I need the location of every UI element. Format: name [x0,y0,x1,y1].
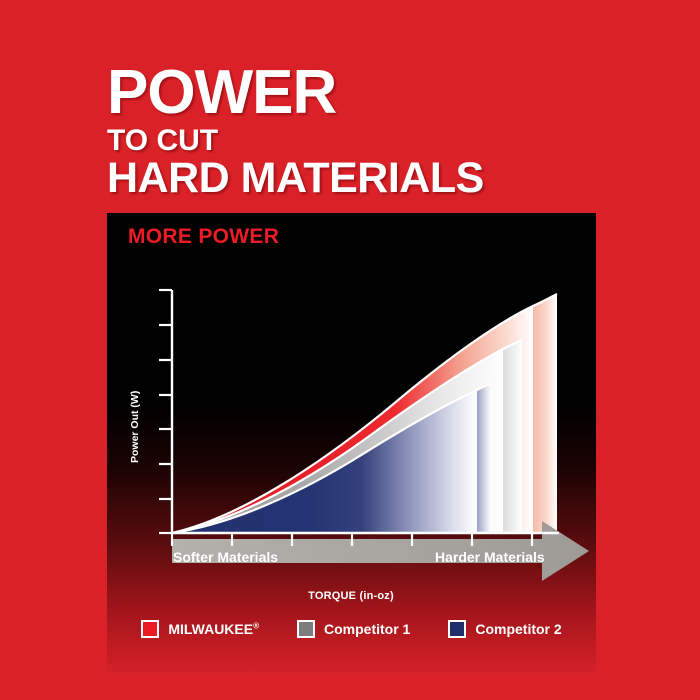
legend-swatch-competitor-2 [448,620,466,638]
chart-panel: MORE POWER [107,213,596,674]
y-axis-ticks [159,290,172,533]
headline-line-2: TO CUT [107,126,607,156]
x-axis-end-label: Harder Materials [435,549,545,565]
legend-item-milwaukee: MILWAUKEE® [141,620,259,638]
legend-label-competitor-2: Competitor 2 [475,621,561,637]
chart-legend: MILWAUKEE® Competitor 1 Competitor 2 [107,620,596,638]
legend-swatch-competitor-1 [297,620,315,638]
x-axis-title: TORQUE (in-oz) [308,590,394,602]
legend-label-milwaukee-text: MILWAUKEE [168,621,253,637]
headline-line-1: POWER [107,62,607,124]
headline-line-3: HARD MATERIALS [107,157,607,200]
legend-label-competitor-1: Competitor 1 [324,621,410,637]
y-axis-title: Power Out (W) [129,391,141,463]
power-vs-torque-chart: Power Out (W) Softer Materials Harder Ma… [107,213,596,674]
legend-item-competitor-2: Competitor 2 [448,620,561,638]
x-axis-start-label: Softer Materials [173,549,278,565]
headline-block: POWER TO CUT HARD MATERIALS [107,62,607,200]
legend-swatch-milwaukee [141,620,159,638]
registered-mark-icon: ® [253,621,259,630]
legend-label-milwaukee: MILWAUKEE® [168,621,259,637]
legend-item-competitor-1: Competitor 1 [297,620,410,638]
